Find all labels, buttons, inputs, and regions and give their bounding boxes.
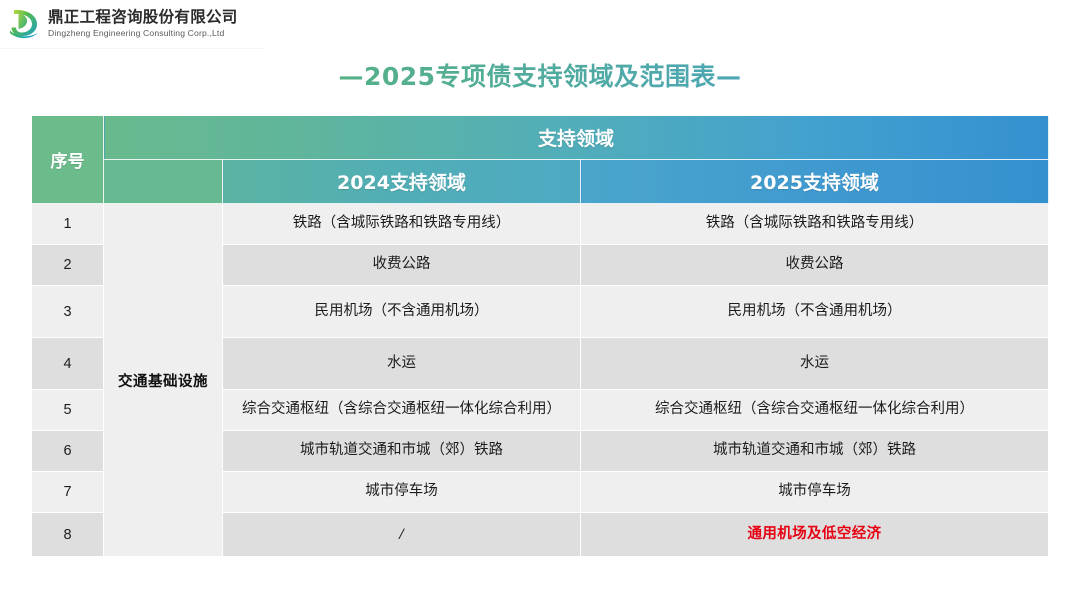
brand-header: 鼎正工程咨询股份有限公司 Dingzheng Engineering Consu… bbox=[0, 0, 264, 48]
table-head: 序号 支持领域 2024支持领域 2025支持领域 bbox=[32, 116, 1049, 204]
row-2024-value: 综合交通枢纽（含综合交通枢纽一体化综合利用） bbox=[223, 390, 581, 431]
row-2025-value: 城市轨道交通和市城（郊）铁路 bbox=[581, 431, 1049, 472]
row-2025-value: 综合交通枢纽（含综合交通枢纽一体化综合利用） bbox=[581, 390, 1049, 431]
support-scope-table: 序号 支持领域 2024支持领域 2025支持领域 1 交通基础设施 铁路（含城… bbox=[31, 115, 1049, 557]
row-seq: 7 bbox=[32, 472, 104, 513]
header-year-2024: 2024支持领域 bbox=[223, 160, 581, 204]
row-2024-value: 民用机场（不含通用机场） bbox=[223, 286, 581, 338]
row-seq: 8 bbox=[32, 513, 104, 557]
row-seq: 1 bbox=[32, 204, 104, 245]
row-2025-value: 收费公路 bbox=[581, 245, 1049, 286]
support-scope-table-wrapper: 序号 支持领域 2024支持领域 2025支持领域 1 交通基础设施 铁路（含城… bbox=[31, 115, 1049, 557]
row-2025-value: 铁路（含城际铁路和铁路专用线） bbox=[581, 204, 1049, 245]
row-seq: 5 bbox=[32, 390, 104, 431]
row-2024-value: 水运 bbox=[223, 338, 581, 390]
row-2025-value: 水运 bbox=[581, 338, 1049, 390]
row-2025-value: 城市停车场 bbox=[581, 472, 1049, 513]
table-header-row-years: 2024支持领域 2025支持领域 bbox=[32, 160, 1049, 204]
table-header-row-group: 序号 支持领域 bbox=[32, 116, 1049, 160]
row-seq: 6 bbox=[32, 431, 104, 472]
row-2024-value: 城市轨道交通和市城（郊）铁路 bbox=[223, 431, 581, 472]
brand-text-block: 鼎正工程咨询股份有限公司 Dingzheng Engineering Consu… bbox=[48, 10, 238, 37]
header-seq: 序号 bbox=[32, 116, 104, 204]
row-seq: 3 bbox=[32, 286, 104, 338]
table-row: 1 交通基础设施 铁路（含城际铁路和铁路专用线） 铁路（含城际铁路和铁路专用线） bbox=[32, 204, 1049, 245]
row-2024-value: / bbox=[223, 513, 581, 557]
row-seq: 2 bbox=[32, 245, 104, 286]
brand-name-cn: 鼎正工程咨询股份有限公司 bbox=[48, 10, 238, 26]
header-support-scope: 支持领域 bbox=[104, 116, 1049, 160]
row-2025-value: 民用机场（不含通用机场） bbox=[581, 286, 1049, 338]
row-category: 交通基础设施 bbox=[104, 204, 223, 557]
brand-name-en: Dingzheng Engineering Consulting Corp.,L… bbox=[48, 29, 238, 38]
row-seq: 4 bbox=[32, 338, 104, 390]
header-year-2025: 2025支持领域 bbox=[581, 160, 1049, 204]
row-2024-value: 城市停车场 bbox=[223, 472, 581, 513]
header-category-blank bbox=[104, 160, 223, 204]
row-2025-value: 通用机场及低空经济 bbox=[581, 513, 1049, 557]
dingzheng-logo-icon bbox=[9, 7, 41, 41]
page-title: —2025专项债支持领域及范围表— bbox=[0, 57, 1080, 93]
table-body: 1 交通基础设施 铁路（含城际铁路和铁路专用线） 铁路（含城际铁路和铁路专用线）… bbox=[32, 204, 1049, 557]
row-2024-value: 铁路（含城际铁路和铁路专用线） bbox=[223, 204, 581, 245]
row-2024-value: 收费公路 bbox=[223, 245, 581, 286]
